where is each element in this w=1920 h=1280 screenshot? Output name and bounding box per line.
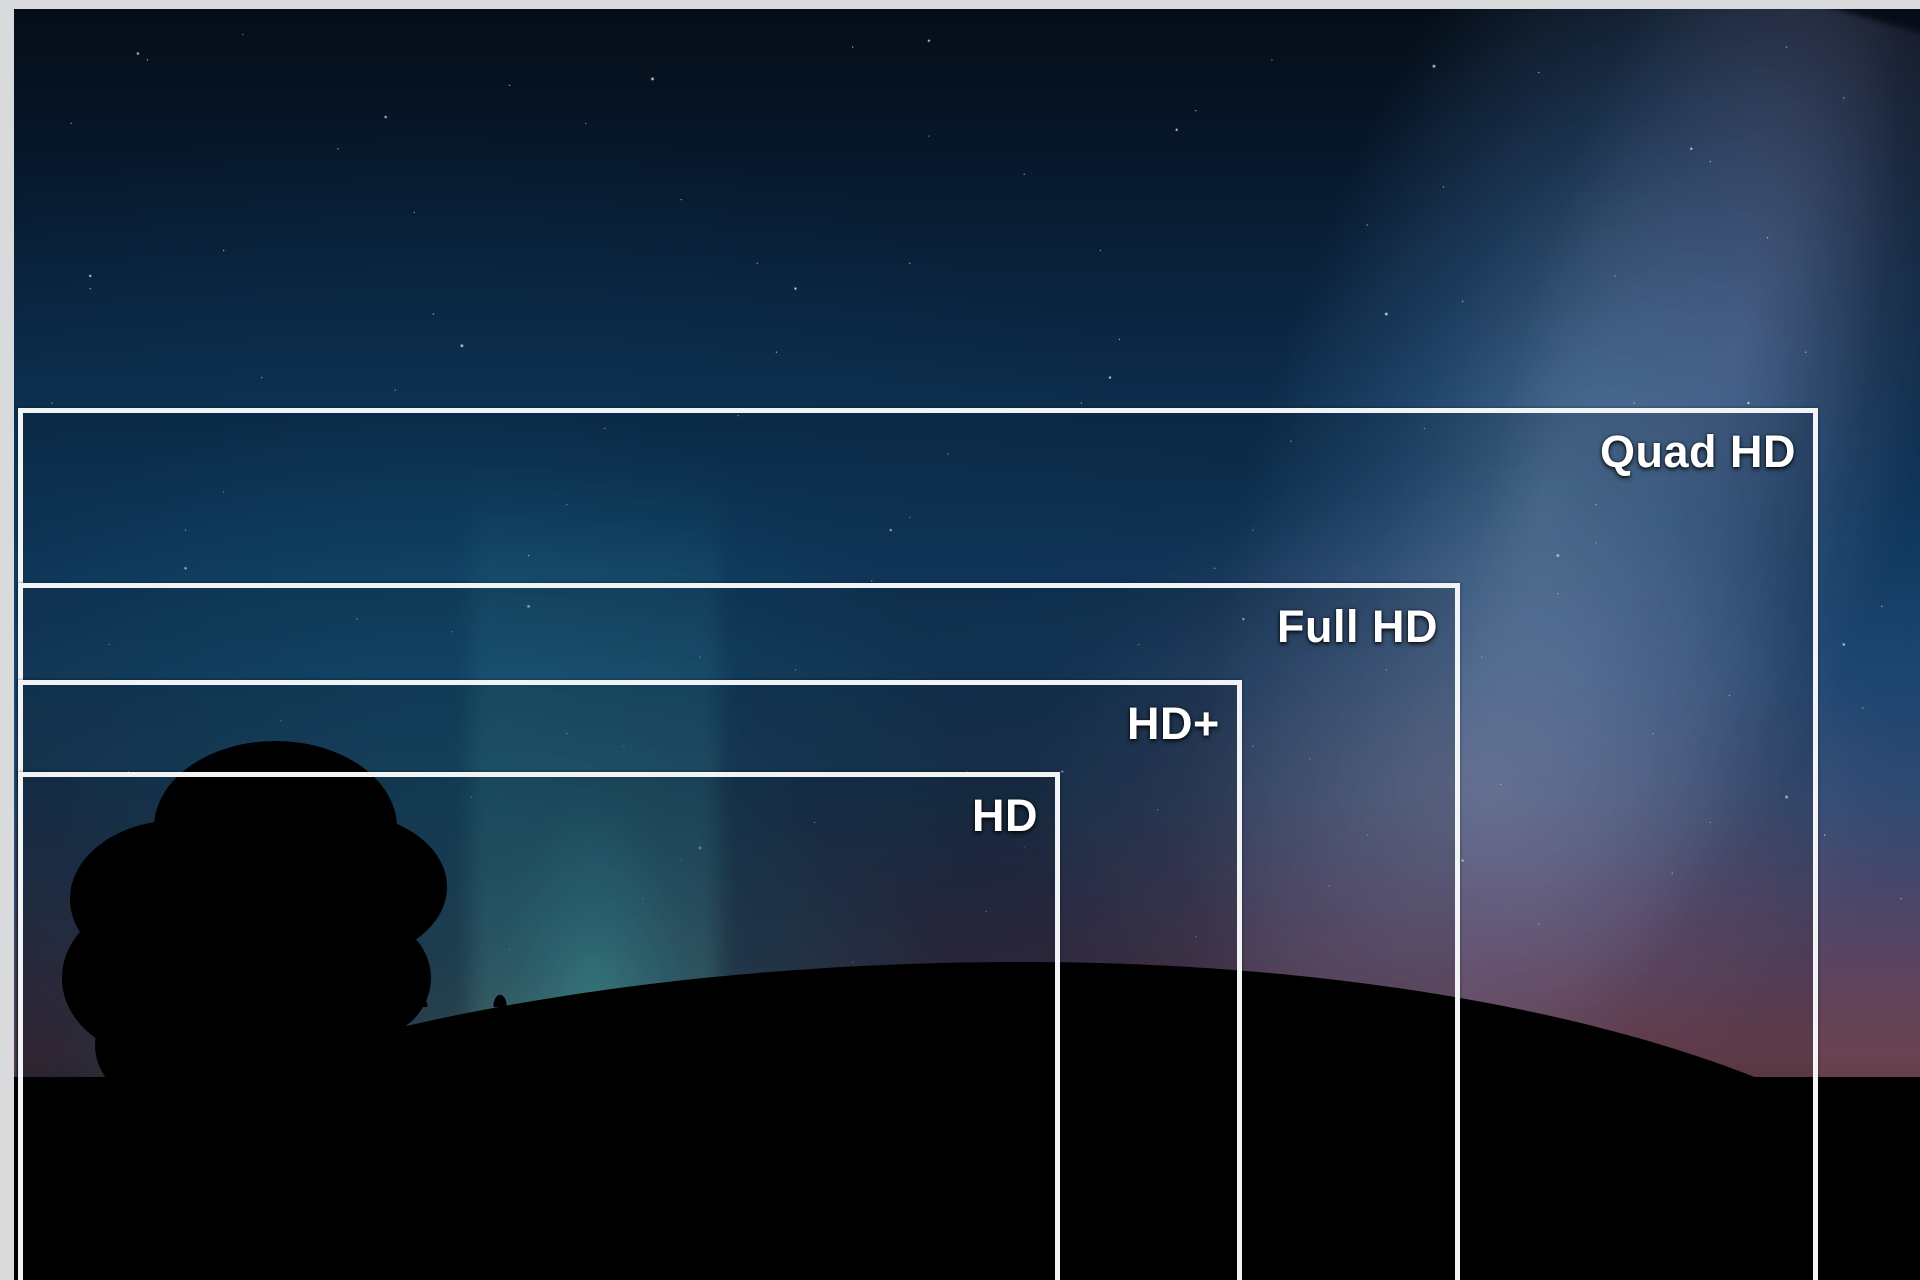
resolution-label-hd: HD — [972, 790, 1038, 842]
resolution-label-quad-hd: Quad HD — [1600, 426, 1796, 478]
resolution-label-full-hd: Full HD — [1277, 601, 1438, 653]
screenshot-stage: Quad HD Full HD HD+ HD — [0, 0, 1920, 1280]
resolution-label-hd-plus: HD+ — [1127, 698, 1220, 750]
resolution-box-hd[interactable] — [18, 772, 1060, 1280]
